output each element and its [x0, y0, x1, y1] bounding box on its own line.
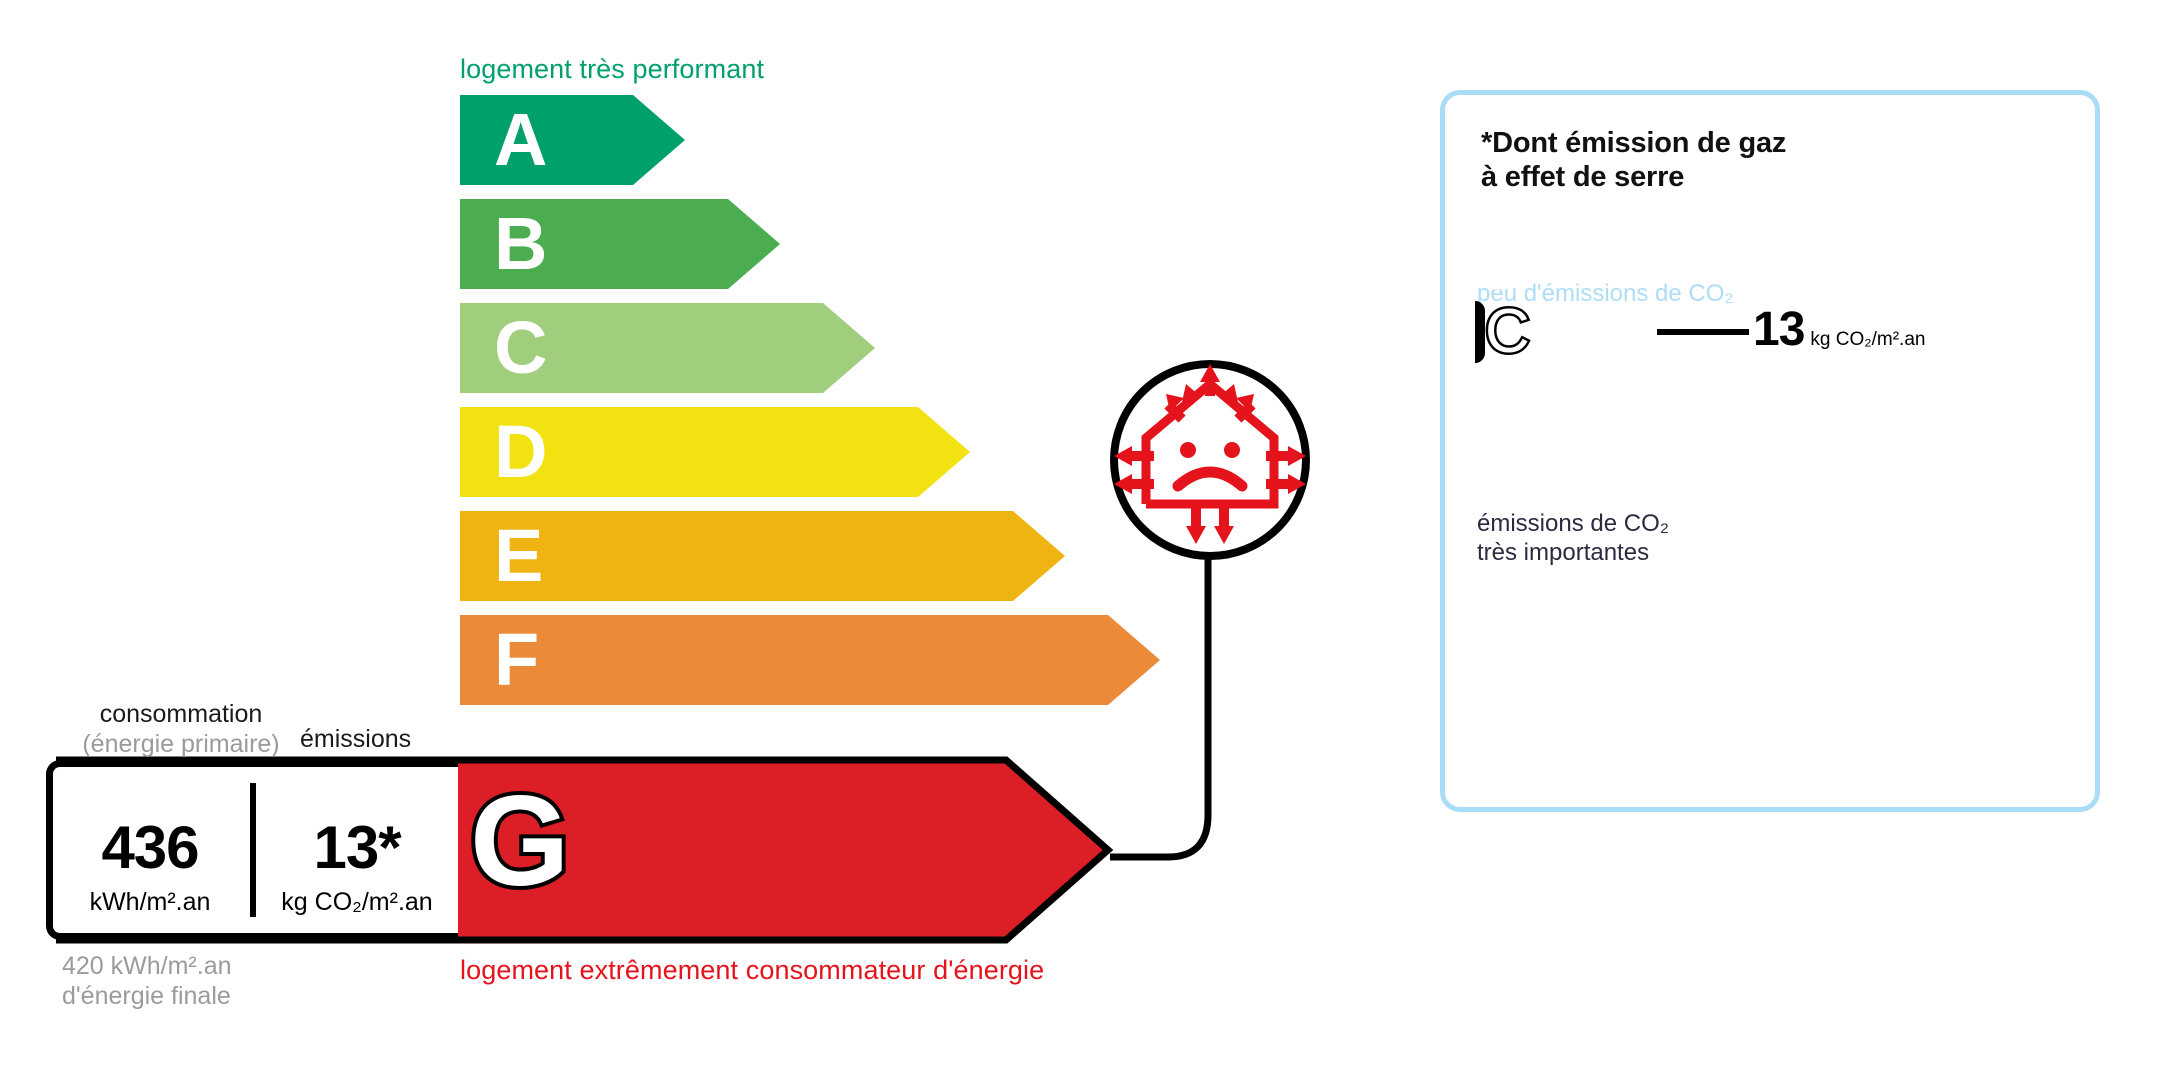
ghg-bar-row-a: A: [1475, 225, 1583, 255]
ghg-panel-title-line-2: à effet de serre: [1481, 161, 1786, 195]
ghg-bar-row-e: E: [1475, 409, 1703, 439]
energy-top-caption: logement très performant: [460, 54, 764, 85]
value-box-divider: [250, 783, 256, 917]
ghg-bottom-caption-line-2: très importantes: [1477, 539, 1669, 568]
emissions-value-cell: 13* kg CO₂/m².an: [258, 818, 456, 915]
consumption-unit: kWh/m².an: [52, 890, 248, 915]
ghg-bar-row-b: B: [1475, 263, 1613, 293]
energy-bar-letter-g: G: [470, 778, 570, 906]
energy-bottom-caption: logement extrêmement consommateur d'éner…: [460, 955, 1044, 986]
energy-bar-letter-b: B: [494, 207, 547, 281]
ghg-value-leader-line: [1657, 329, 1749, 335]
ghg-bar-row-f: F: [1475, 447, 1733, 477]
ghg-panel-title: *Dont émission de gaz à effet de serre: [1481, 127, 1786, 195]
emissions-header: émissions: [300, 725, 411, 754]
ghg-bar-letter-b: B: [1489, 262, 1513, 295]
consumption-value: 436: [52, 818, 248, 878]
final-energy-note: 420 kWh/m².an d'énergie finale: [62, 952, 232, 1011]
consumption-header: consommation (énergie primaire): [66, 700, 296, 759]
ghg-bar-letter-c: C: [1485, 301, 1530, 363]
final-energy-line-2: d'énergie finale: [62, 982, 232, 1012]
consumption-header-main: consommation: [66, 700, 296, 730]
ghg-bar-row-d: D: [1475, 371, 1673, 401]
ghg-bar-fill-c: [1475, 301, 1485, 363]
energy-bar-shape-e: [460, 511, 1065, 601]
consumption-header-sub: (énergie primaire): [66, 730, 296, 760]
ghg-bar-letter-f: F: [1489, 446, 1509, 479]
ghg-emissions-panel: *Dont émission de gaz à effet de serre p…: [1440, 90, 2100, 812]
ghg-bar-letter-e: E: [1489, 408, 1511, 441]
final-energy-line-1: 420 kWh/m².an: [62, 952, 232, 982]
sad-house-heat-loss-icon: [1108, 358, 1312, 562]
energy-bar-letter-f: F: [494, 623, 539, 697]
ghg-bar-letter-d: D: [1489, 370, 1513, 403]
emissions-unit: kg CO₂/m².an: [258, 890, 456, 915]
energy-bar-row-b: B: [460, 199, 780, 289]
energy-performance-chart: logement très performant ABCDEF G logeme…: [0, 0, 1300, 1079]
emissions-value: 13*: [258, 818, 456, 878]
energy-bar-letter-c: C: [494, 311, 547, 385]
ghg-bar-row-c: C: [1475, 301, 1643, 363]
ghg-panel-title-line-1: *Dont émission de gaz: [1481, 127, 1786, 161]
ghg-value-number: 13: [1753, 303, 1804, 356]
energy-bar-row-a: A: [460, 95, 685, 185]
energy-bar-row-e: E: [460, 511, 1065, 601]
badge-connector-line: [1090, 545, 1330, 885]
energy-bar-letter-e: E: [494, 519, 543, 593]
ghg-value-unit: kg CO₂/m².an: [1810, 329, 1925, 350]
consumption-value-cell: 436 kWh/m².an: [52, 818, 248, 915]
energy-bar-row-d: D: [460, 407, 970, 497]
ghg-bottom-caption: émissions de CO₂ très importantes: [1477, 510, 1669, 568]
energy-bar-letter-d: D: [494, 415, 547, 489]
energy-bar-shape-f: [460, 615, 1160, 705]
ghg-value-callout: 13kg CO₂/m².an: [1753, 302, 1925, 357]
energy-bar-row-f: F: [460, 615, 1160, 705]
energy-bar-letter-a: A: [494, 103, 547, 177]
ghg-bar-letter-g: G: [1489, 484, 1515, 517]
energy-bar-row-c: C: [460, 303, 875, 393]
ghg-bar-letter-a: A: [1489, 224, 1513, 257]
